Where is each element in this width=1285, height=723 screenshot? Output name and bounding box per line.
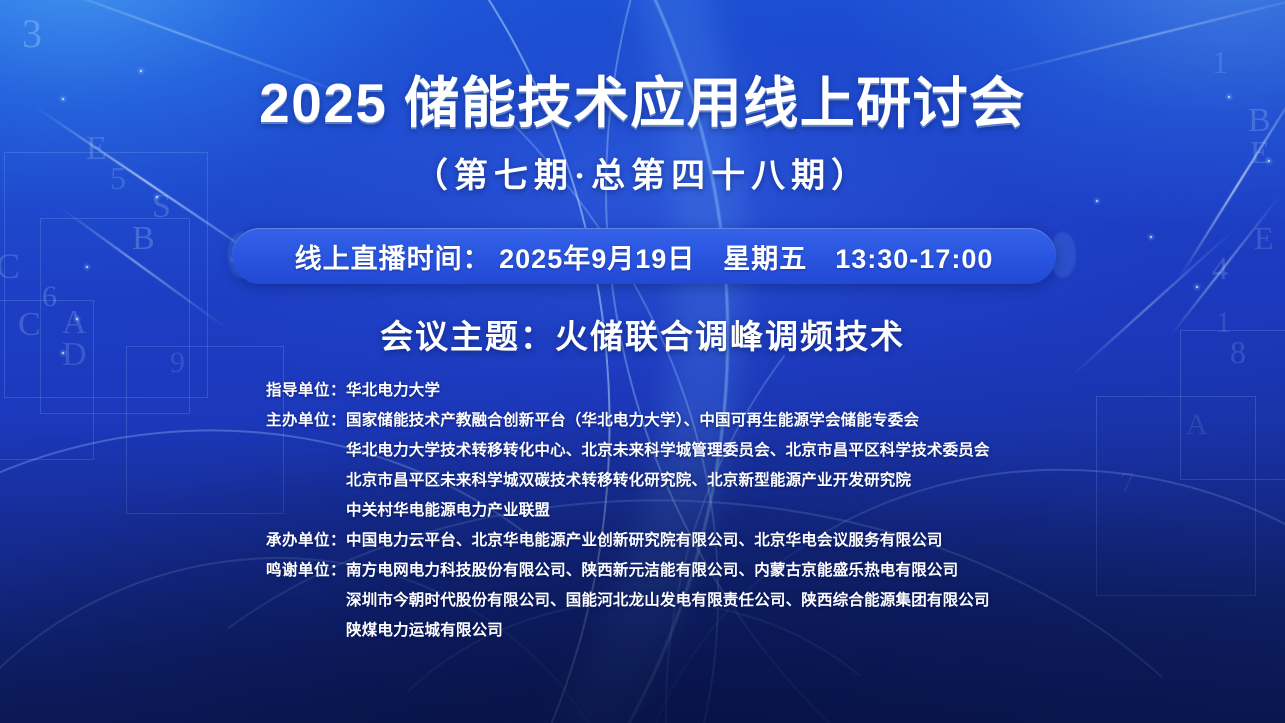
organization-row: 承办单位：中国电力云平台、北京华电能源产业创新研究院有限公司、北京华电会议服务有…: [266, 526, 1056, 556]
organization-row: 鸣谢单位：南方电网电力科技股份有限公司、陕西新元洁能有限公司、内蒙古京能盛乐热电…: [266, 556, 1056, 586]
page-title: 2025 储能技术应用线上研讨会: [0, 58, 1285, 138]
live-time-banner: 线上直播时间： 2025年9月19日 星期五 13:30-17:00: [232, 228, 1056, 284]
poster-content: 2025 储能技术应用线上研讨会 （第七期·总第四十八期） 线上直播时间： 20…: [0, 0, 1285, 723]
organization-value: 中国电力云平台、北京华电能源产业创新研究院有限公司、北京华电会议服务有限公司: [346, 526, 1056, 556]
organization-value: 国家储能技术产教融合创新平台（华北电力大学）、中国可再生能源学会储能专委会: [346, 406, 1056, 436]
organization-label: 指导单位：: [266, 376, 346, 406]
organization-row: 指导单位：华北电力大学: [266, 376, 1056, 406]
page-subtitle: （第七期·总第四十八期）: [0, 148, 1285, 197]
organization-value: 南方电网电力科技股份有限公司、陕西新元洁能有限公司、内蒙古京能盛乐热电有限公司: [346, 556, 1056, 586]
organization-continuation: 华北电力大学技术转移转化中心、北京未来科学城管理委员会、北京市昌平区科学技术委员…: [266, 436, 1056, 466]
organization-row: 主办单位：国家储能技术产教融合创新平台（华北电力大学）、中国可再生能源学会储能专…: [266, 406, 1056, 436]
webinar-poster: 3E5SBC6CAD91BEE418A7 2025 储能技术应用线上研讨会 （第…: [0, 0, 1285, 723]
organization-label: 主办单位：: [266, 406, 346, 436]
organization-value: 华北电力大学: [346, 376, 1056, 406]
organization-continuation: 北京市昌平区未来科学城双碳技术转移转化研究院、北京新型能源产业开发研究院: [266, 466, 1056, 496]
organization-continuation: 深圳市今朝时代股份有限公司、国能河北龙山发电有限责任公司、陕西综合能源集团有限公…: [266, 586, 1056, 616]
live-time-text: 线上直播时间： 2025年9月19日 星期五 13:30-17:00: [295, 237, 994, 276]
conference-theme: 会议主题：火储联合调峰调频技术: [0, 310, 1285, 358]
organization-label: 承办单位：: [266, 526, 346, 556]
organization-continuation: 中关村华电能源电力产业联盟: [266, 496, 1056, 526]
organization-continuation: 陕煤电力运城有限公司: [266, 616, 1056, 646]
organizations-block: 指导单位：华北电力大学主办单位：国家储能技术产教融合创新平台（华北电力大学）、中…: [266, 376, 1056, 646]
organization-label: 鸣谢单位：: [266, 556, 346, 586]
